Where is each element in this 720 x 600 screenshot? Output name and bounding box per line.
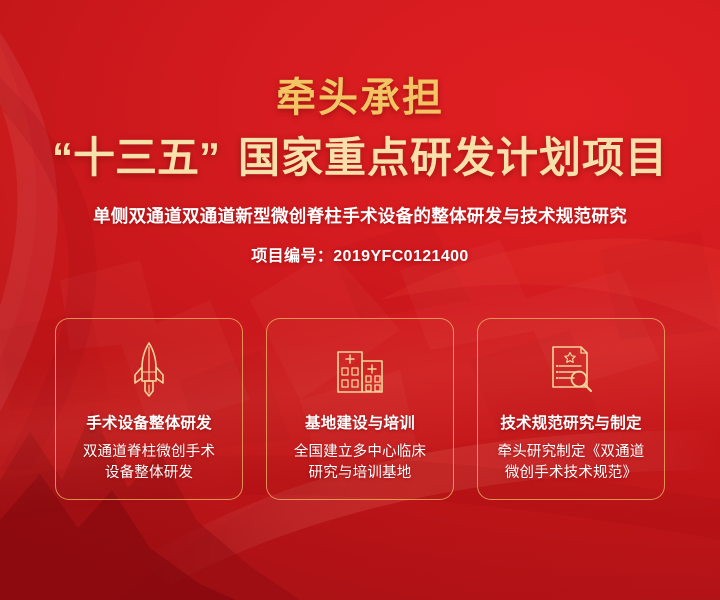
feature-card[interactable]: 技术规范研究与制定 牵头研究制定《双通道 微创手术技术规范》 [477,318,665,500]
card-icon-wrapper [332,341,388,397]
card-description: 牵头研究制定《双通道 微创手术技术规范》 [490,442,653,483]
feature-card-list: 手术设备整体研发 双通道脊柱微创手术 设备整体研发 [55,318,665,500]
card-description-line2: 微创手术技术规范》 [498,463,645,484]
card-description: 全国建立多中心临床 研究与培训基地 [286,442,434,483]
rocket-icon [129,341,169,397]
card-description: 双通道脊柱微创手术 设备整体研发 [75,442,223,483]
title-main: “十三五”国家重点研发计划项目 [0,134,720,181]
feature-card[interactable]: 手术设备整体研发 双通道脊柱微创手术 设备整体研发 [55,318,243,500]
card-title: 手术设备整体研发 [86,411,212,433]
title-main-quoted: “十三五” [52,134,220,181]
card-description-line1: 全国建立多中心临床 [294,442,426,463]
header-block: 牵头承担 “十三五”国家重点研发计划项目 单侧双通道双通道新型微创脊柱手术设备的… [0,0,720,266]
card-title: 技术规范研究与制定 [500,411,641,433]
title-lead: 牵头承担 [0,78,720,118]
card-description-line1: 牵头研究制定《双通道 [498,442,645,463]
document-magnifier-icon [546,343,596,395]
card-icon-wrapper [129,341,169,397]
project-subtitle: 单侧双通道双通道新型微创脊柱手术设备的整体研发与技术规范研究 [0,203,720,228]
card-icon-wrapper [546,341,596,397]
promotional-banner: 牵头承担 “十三五”国家重点研发计划项目 单侧双通道双通道新型微创脊柱手术设备的… [0,0,720,600]
project-number: 项目编号：2019YFC0121400 [0,242,720,266]
card-description-line2: 设备整体研发 [83,463,215,484]
card-description-line2: 研究与培训基地 [294,463,426,484]
card-description-line1: 双通道脊柱微创手术 [83,442,215,463]
card-title: 基地建设与培训 [305,411,415,433]
title-main-rest: 国家重点研发计划项目 [238,134,668,181]
feature-card[interactable]: 基地建设与培训 全国建立多中心临床 研究与培训基地 [266,318,454,500]
hospital-building-icon [332,344,388,394]
